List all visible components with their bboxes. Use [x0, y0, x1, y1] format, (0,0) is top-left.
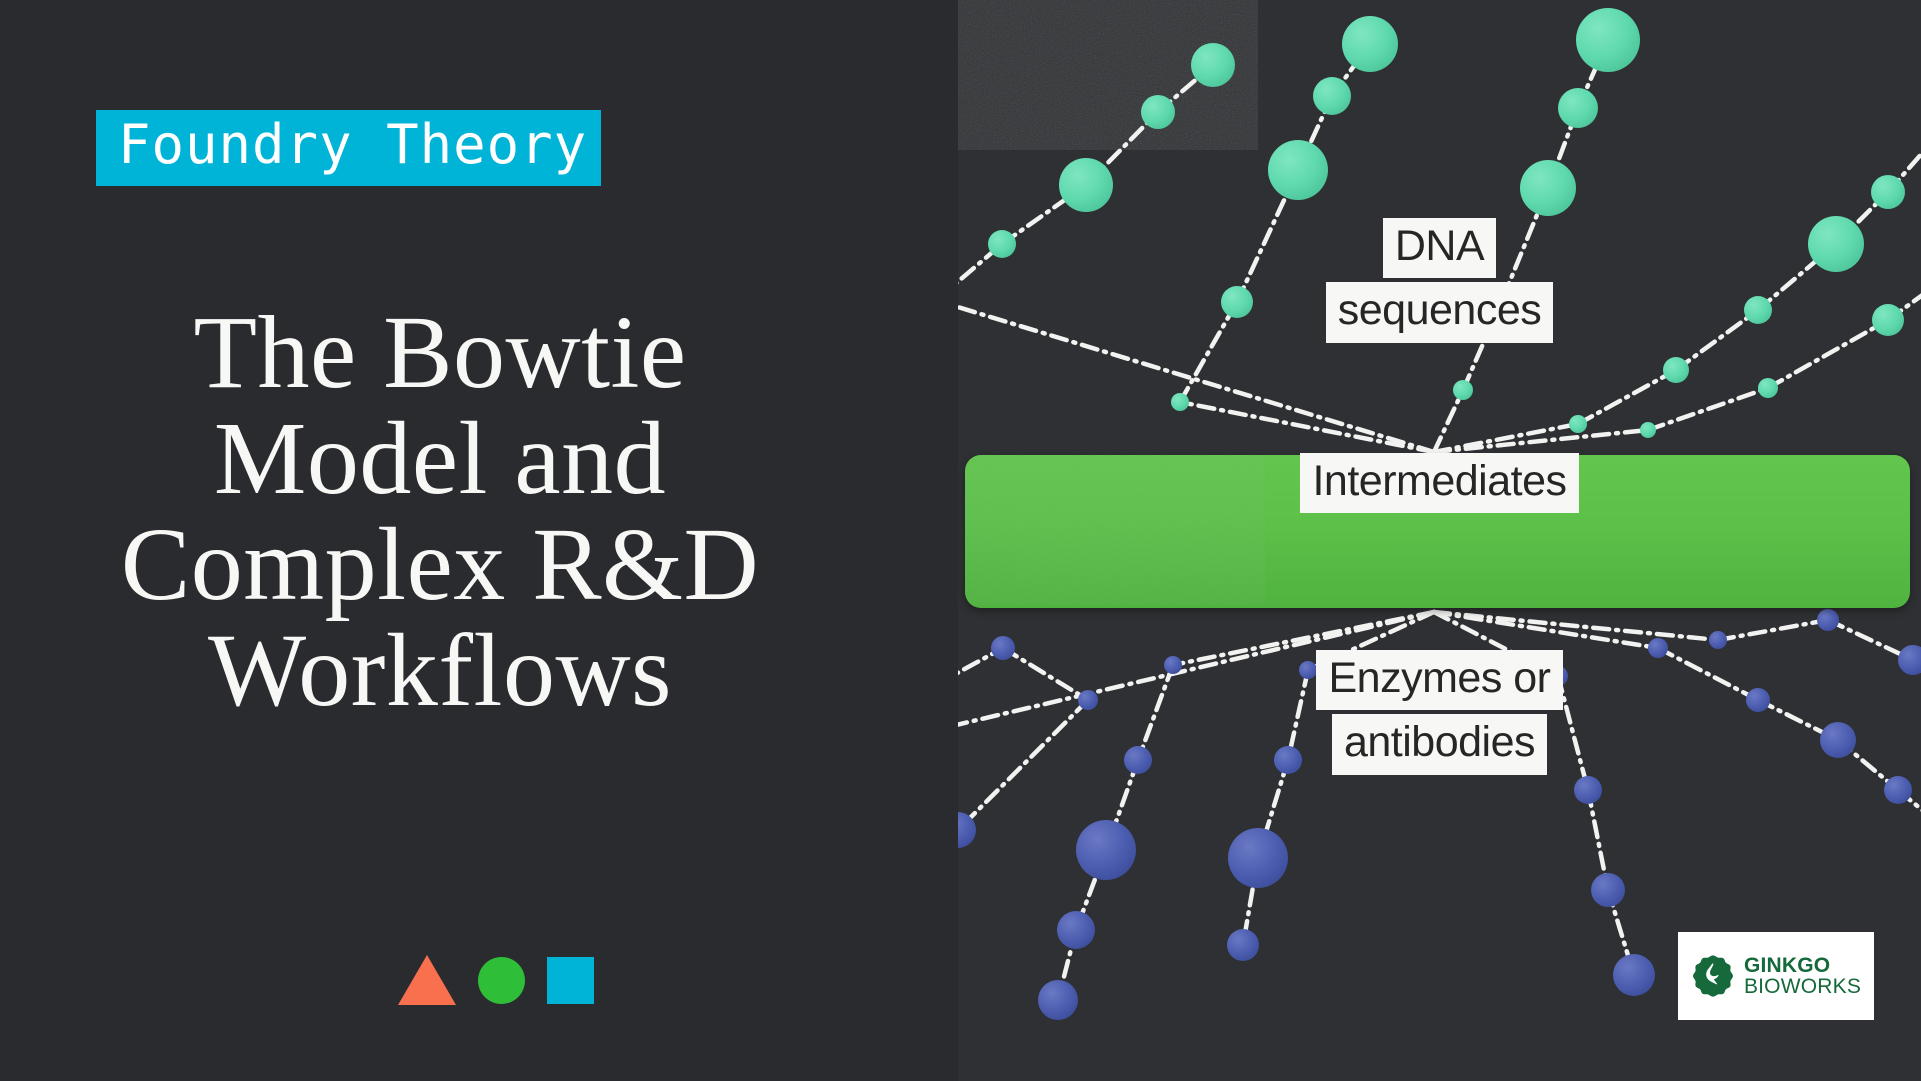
- logo-line-1: GINKGO: [1744, 955, 1861, 976]
- title-line-2: Model and: [60, 406, 820, 512]
- square-icon: [547, 957, 594, 1004]
- title-line-4: Workflows: [60, 618, 820, 724]
- enzymes-label-line-2: antibodies: [1332, 714, 1547, 774]
- circle-icon: [478, 957, 525, 1004]
- brand-shapes: [398, 955, 594, 1005]
- title-line-3: Complex R&D: [60, 512, 820, 618]
- triangle-icon: [398, 955, 456, 1005]
- eyebrow-label: Foundry Theory: [96, 110, 601, 186]
- diagram-panel: DNA sequences Intermediates Enzymes or a…: [958, 0, 1921, 1081]
- left-panel: Foundry Theory The Bowtie Model and Comp…: [0, 0, 958, 1081]
- logo-line-2: BIOWORKS: [1744, 976, 1861, 997]
- dna-label-line-2: sequences: [1326, 282, 1554, 342]
- logo-wordmark: GINKGO BIOWORKS: [1744, 955, 1861, 997]
- ginkgo-bioworks-logo: GINKGO BIOWORKS: [1678, 932, 1874, 1020]
- enzymes-antibodies-label: Enzymes or antibodies: [958, 650, 1921, 775]
- slide-root: Foundry Theory The Bowtie Model and Comp…: [0, 0, 1921, 1081]
- page-title: The Bowtie Model and Complex R&D Workflo…: [60, 300, 820, 724]
- dna-sequences-label: DNA sequences: [958, 218, 1921, 343]
- intermediates-label-text: Intermediates: [1300, 453, 1578, 513]
- dna-label-line-1: DNA: [1383, 218, 1496, 278]
- intermediates-label: Intermediates: [958, 453, 1921, 513]
- ginkgo-gear-leaf-icon: [1691, 954, 1735, 998]
- enzymes-label-line-1: Enzymes or: [1316, 650, 1562, 710]
- title-line-1: The Bowtie: [60, 300, 820, 406]
- eyebrow-banner: Foundry Theory: [96, 110, 601, 186]
